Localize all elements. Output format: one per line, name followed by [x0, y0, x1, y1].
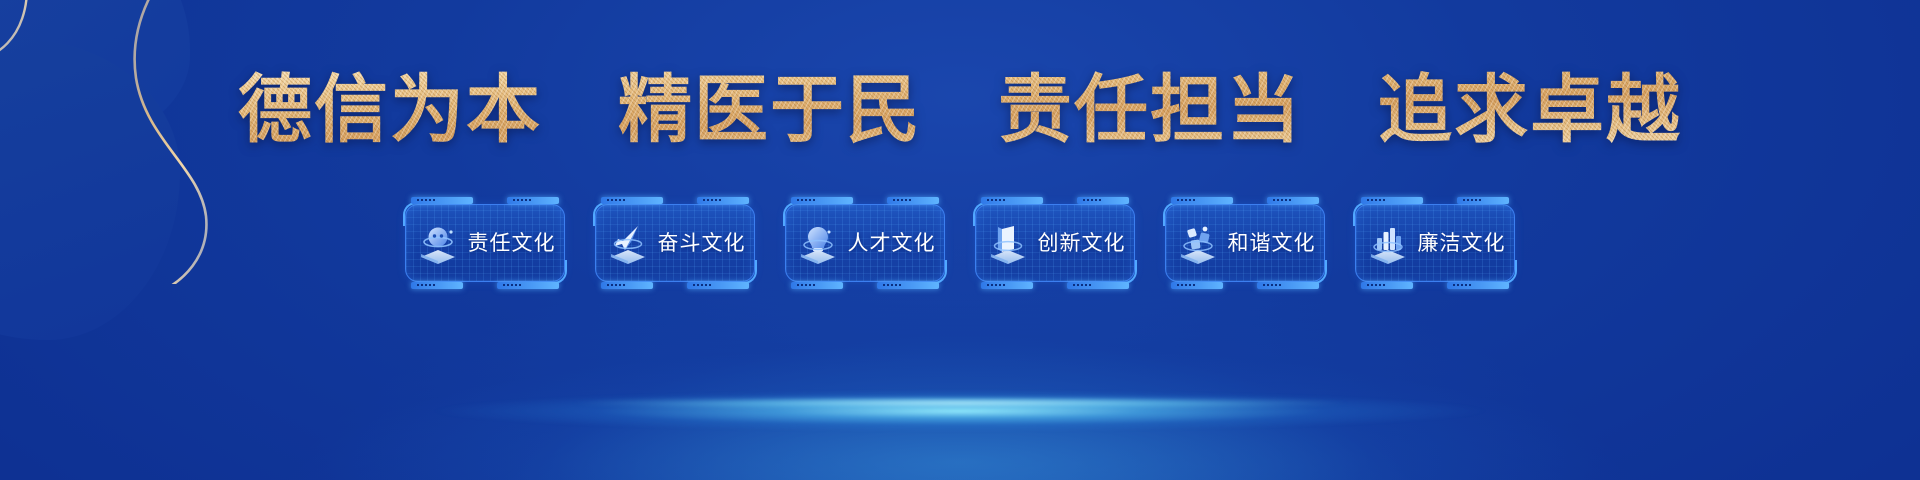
hud-bar-bottom-right — [497, 282, 559, 289]
culture-banner: 德信为本 精医于民 责任担当 追求卓越 — [0, 0, 1920, 480]
molecule-cubes-icon — [1175, 220, 1221, 264]
hud-bar-top-right — [1457, 197, 1509, 204]
culture-card-responsibility[interactable]: 责任文化 — [401, 196, 569, 288]
hud-bar-bottom-left — [1171, 282, 1223, 289]
culture-card-talent[interactable]: 人才文化 — [781, 196, 949, 288]
hud-bar-top-right — [1267, 197, 1319, 204]
hud-bar-top-left — [1171, 197, 1233, 204]
banner-title-wrapper: 德信为本 精医于民 责任担当 追求卓越 — [0, 66, 1920, 156]
culture-card-label: 廉洁文化 — [1418, 227, 1506, 257]
culture-card-innovation[interactable]: 创新文化 — [971, 196, 1139, 288]
bar-chart-icon — [1365, 220, 1411, 264]
culture-card-label: 奋斗文化 — [658, 227, 746, 257]
hud-bar-top-left — [791, 197, 853, 204]
hud-bar-bottom-right — [1257, 282, 1319, 289]
rocket-icon — [605, 220, 651, 264]
hud-bar-bottom-left — [411, 282, 463, 289]
hud-bar-bottom-left — [981, 282, 1033, 289]
hud-bar-top-left — [411, 197, 473, 204]
hud-bar-bottom-right — [877, 282, 939, 289]
person-globe-icon — [415, 220, 461, 264]
hud-bar-bottom-right — [1447, 282, 1509, 289]
hud-bar-bottom-left — [791, 282, 843, 289]
page-title: 德信为本 精医于民 责任担当 追求卓越 — [238, 66, 1682, 156]
hud-bar-top-left — [1361, 197, 1423, 204]
bottom-light-beam-core — [0, 396, 1920, 410]
culture-card-integrity[interactable]: 廉洁文化 — [1351, 196, 1519, 288]
hud-bar-top-right — [1077, 197, 1129, 204]
hud-bar-bottom-left — [601, 282, 653, 289]
hud-bar-top-left — [981, 197, 1043, 204]
culture-card-label: 责任文化 — [468, 227, 556, 257]
culture-card-label: 创新文化 — [1038, 227, 1126, 257]
hud-bar-bottom-right — [1067, 282, 1129, 289]
hud-bar-bottom-right — [687, 282, 749, 289]
culture-card-striving[interactable]: 奋斗文化 — [591, 196, 759, 288]
floor-glow — [0, 300, 1920, 480]
culture-card-label: 和谐文化 — [1228, 227, 1316, 257]
hud-bar-bottom-left — [1361, 282, 1413, 289]
hud-bar-top-right — [507, 197, 559, 204]
hud-bar-top-right — [887, 197, 939, 204]
bottom-light-beam — [0, 384, 1920, 438]
culture-card-label: 人才文化 — [848, 227, 936, 257]
talent-bulb-icon — [795, 220, 841, 264]
hud-bar-top-left — [601, 197, 663, 204]
book-idea-icon — [985, 220, 1031, 264]
culture-card-harmony[interactable]: 和谐文化 — [1161, 196, 1329, 288]
culture-card-list: 责任文化 奋斗文化 — [0, 196, 1920, 288]
hud-bar-top-right — [697, 197, 749, 204]
